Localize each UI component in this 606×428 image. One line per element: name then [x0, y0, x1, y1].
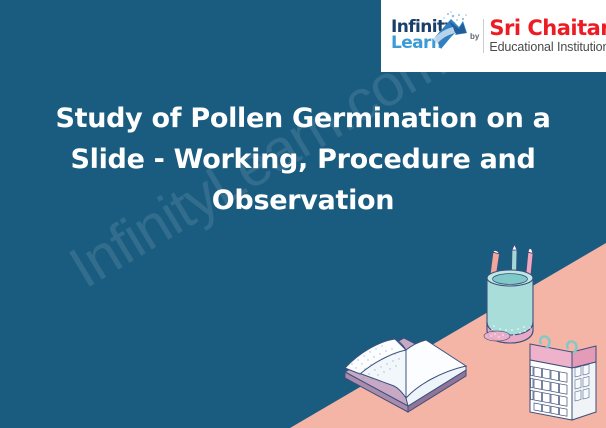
page-title: Study of Pollen Germination on a Slide -…	[24, 98, 582, 221]
sri-chaitanya-logo: Sri Chaitanya Educational Institutions	[487, 18, 606, 53]
sri-chaitanya-subtitle: Educational Institutions	[489, 41, 606, 54]
infinity-arrow-icon	[429, 11, 471, 55]
by-label: by	[470, 32, 479, 41]
sri-chaitanya-name: Sri Chaitanya	[489, 18, 606, 39]
brand-logo-card: Infinity Learn by Sri Chaitanya Edu	[381, 0, 606, 72]
poster-canvas: InfinityLearn.com	[0, 0, 606, 428]
logo-by-separator: by	[470, 16, 484, 56]
logo-divider	[483, 19, 484, 53]
infinity-learn-logo: Infinity Learn	[389, 7, 469, 65]
